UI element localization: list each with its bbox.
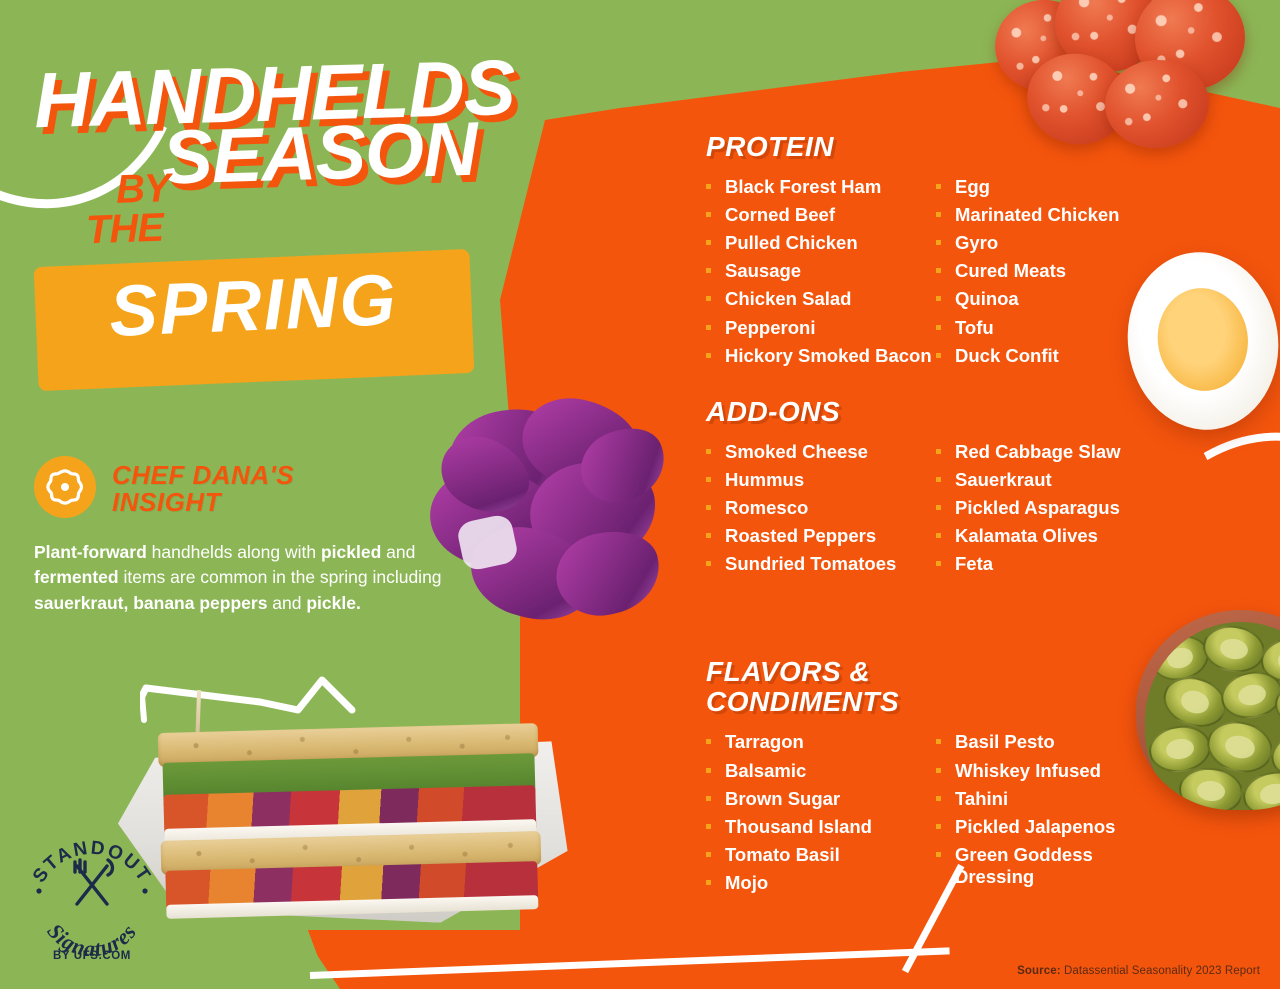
list-item: Hickory Smoked Bacon	[706, 345, 936, 368]
section-addons-title: ADD-ONS	[706, 397, 1121, 427]
list-item: Red Cabbage Slaw	[936, 441, 1121, 464]
section-protein-title: PROTEIN	[706, 132, 1120, 162]
red-cabbage-slaw-photo	[430, 400, 680, 645]
source-value: Datassential Seasonality 2023 Report	[1061, 965, 1260, 977]
list-item: Tomato Basil	[706, 844, 936, 867]
list-item: Cured Meats	[936, 260, 1120, 283]
title-word-by: BY	[115, 171, 170, 207]
list-item: Thousand Island	[706, 816, 936, 839]
section-protein: PROTEIN Black Forest HamCorned BeefPulle…	[706, 132, 1120, 373]
list-item: Romesco	[706, 497, 936, 520]
list-item: Gyro	[936, 232, 1120, 255]
fork-knife-crossed-icon	[75, 860, 113, 904]
list-item: Pickled Asparagus	[936, 497, 1121, 520]
list-item: Brown Sugar	[706, 788, 936, 811]
season-badge-label: SPRING	[34, 261, 473, 351]
section-addons-list-left: Smoked CheeseHummusRomescoRoasted Pepper…	[706, 441, 936, 576]
section-protein-list-left: Black Forest HamCorned BeefPulled Chicke…	[706, 176, 936, 367]
page-title: HANDHELDS SEASON BY THE	[34, 62, 554, 184]
chef-insight-block: CHEF DANA'S INSIGHT Plant-forward handhe…	[34, 456, 454, 616]
section-flavors-list-right: Basil PestoWhiskey InfusedTahiniPickled …	[936, 731, 1166, 888]
list-item: Quinoa	[936, 288, 1120, 311]
list-item: Sausage	[706, 260, 936, 283]
section-protein-list-right: EggMarinated ChickenGyroCured MeatsQuino…	[936, 176, 1120, 367]
list-item: Chicken Salad	[706, 288, 936, 311]
section-addons: ADD-ONS Smoked CheeseHummusRomescoRoaste…	[706, 397, 1121, 582]
title-line-season: SEASON	[161, 116, 555, 189]
list-item: Balsamic	[706, 760, 936, 783]
list-item: Roasted Peppers	[706, 525, 936, 548]
list-item: Mojo	[706, 872, 936, 895]
list-item: Feta	[936, 553, 1121, 576]
chef-insight-title-line1: CHEF DANA'S	[112, 462, 294, 489]
list-item: Sauerkraut	[936, 469, 1121, 492]
sandwich-stack	[158, 723, 543, 913]
list-item: Pickled Jalapenos	[936, 816, 1166, 839]
chef-insight-title: CHEF DANA'S INSIGHT	[112, 456, 294, 517]
list-item: Hummus	[706, 469, 936, 492]
svg-text:STANDOUT: STANDOUT	[29, 838, 155, 887]
list-item: Tofu	[936, 317, 1120, 340]
list-item: Pepperoni	[706, 317, 936, 340]
season-badge: SPRING	[34, 249, 475, 391]
list-item: Marinated Chicken	[936, 204, 1120, 227]
list-item: Egg	[936, 176, 1120, 199]
list-item: Kalamata Olives	[936, 525, 1121, 548]
section-flavors-title-line2: CONDIMENTS	[706, 687, 1166, 717]
list-item: Pulled Chicken	[706, 232, 936, 255]
list-item: Whiskey Infused	[936, 760, 1166, 783]
list-item: Black Forest Ham	[706, 176, 936, 199]
brand-logo[interactable]: STANDOUT Signatures BY UFS.COM	[22, 818, 162, 968]
infographic-canvas: HANDHELDS SEASON BY THE SPRING CHEF DANA…	[0, 0, 1280, 989]
list-item: Tarragon	[706, 731, 936, 754]
source-note: Source: Datassential Seasonality 2023 Re…	[1017, 965, 1260, 977]
chef-insight-title-line2: INSIGHT	[112, 489, 294, 516]
chef-insight-body: Plant-forward handhelds along with pickl…	[34, 540, 454, 616]
section-flavors-title-line1: FLAVORS &	[706, 657, 1166, 687]
list-item: Green Goddess Dressing	[936, 844, 1166, 889]
brand-logo-byline: BY UFS.COM	[22, 950, 162, 962]
list-item: Corned Beef	[706, 204, 936, 227]
title-word-the: THE	[85, 211, 163, 248]
section-flavors: FLAVORS & CONDIMENTS TarragonBalsamicBro…	[706, 657, 1166, 900]
section-flavors-title: FLAVORS & CONDIMENTS	[706, 657, 1166, 717]
list-item: Duck Confit	[936, 345, 1120, 368]
list-item: Sundried Tomatoes	[706, 553, 936, 576]
section-flavors-list-left: TarragonBalsamicBrown SugarThousand Isla…	[706, 731, 936, 894]
list-item: Smoked Cheese	[706, 441, 936, 464]
list-item: Tahini	[936, 788, 1166, 811]
pepperoni-slices-photo	[985, 0, 1265, 140]
source-label: Source:	[1017, 965, 1061, 977]
flower-egg-icon	[34, 456, 96, 518]
section-addons-list-right: Red Cabbage SlawSauerkrautPickled Aspara…	[936, 441, 1121, 576]
chef-insight-header: CHEF DANA'S INSIGHT	[34, 456, 454, 518]
list-item: Basil Pesto	[936, 731, 1166, 754]
